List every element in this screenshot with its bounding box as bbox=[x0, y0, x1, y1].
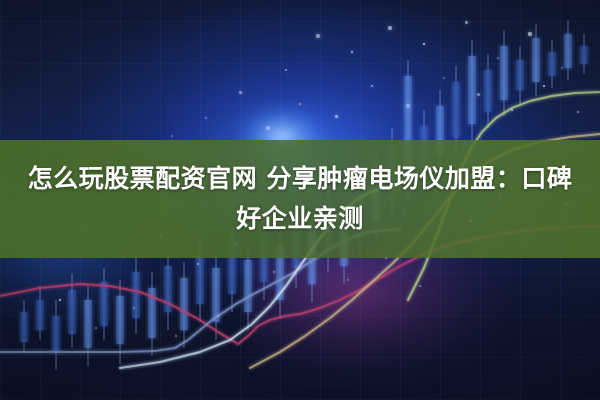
headline-line-1: 怎么玩股票配资官网 分享肿瘤电场仪加盟：口碑 bbox=[28, 159, 573, 199]
banner-image: 怎么玩股票配资官网 分享肿瘤电场仪加盟：口碑 好企业亲测 bbox=[0, 0, 600, 400]
headline-line-2: 好企业亲测 bbox=[236, 199, 364, 239]
headline-band: 怎么玩股票配资官网 分享肿瘤电场仪加盟：口碑 好企业亲测 bbox=[0, 140, 600, 258]
